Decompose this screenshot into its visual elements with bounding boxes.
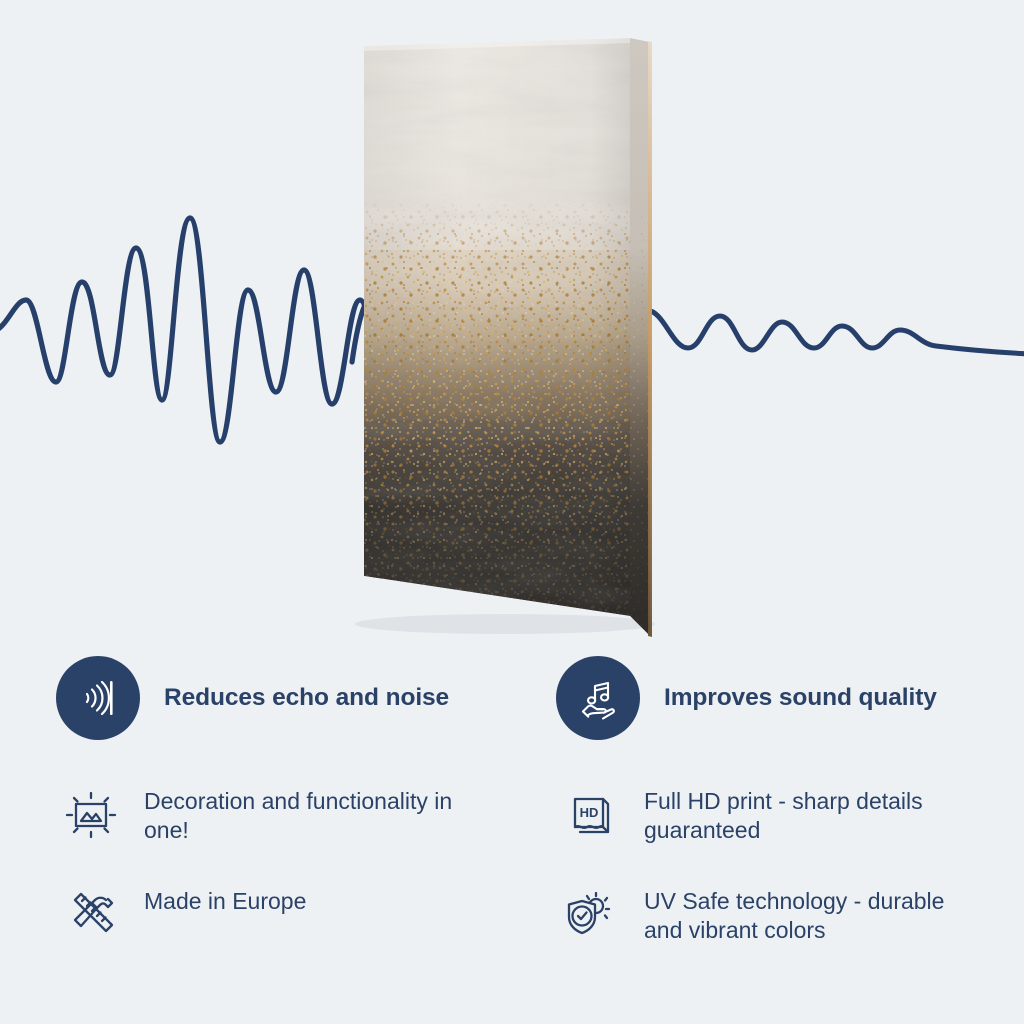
feature-text: Made in Europe — [144, 882, 306, 916]
badge-improves-sound: Improves sound quality — [556, 656, 937, 740]
abstract-canvas-print — [0, 0, 1024, 660]
feature-made-in-europe: Made in Europe — [60, 882, 306, 946]
feature-uv-safe: UV Safe technology - durable and vibrant… — [560, 882, 984, 946]
badge-label: Improves sound quality — [664, 684, 937, 712]
hd-canvas-icon-wrap: HD — [560, 784, 622, 846]
badge-group: Reduces echo and noise Im — [0, 648, 1024, 758]
feature-text: UV Safe technology - durable and vibrant… — [644, 882, 984, 945]
hd-canvas-icon: HD — [562, 786, 620, 844]
hd-icon-text: HD — [580, 805, 599, 820]
badge-reduces-echo: Reduces echo and noise — [56, 656, 449, 740]
framed-picture-shine-icon — [62, 786, 120, 844]
uv-shield-sun-icon-wrap — [560, 884, 622, 946]
music-note-hand-icon-circle — [556, 656, 640, 740]
badge-label: Reduces echo and noise — [164, 684, 449, 712]
framed-picture-shine-icon-wrap — [60, 784, 122, 846]
feature-text: Full HD print - sharp details guaranteed — [644, 782, 984, 845]
music-note-hand-icon — [573, 673, 623, 723]
echo-waves-icon-circle — [56, 656, 140, 740]
uv-shield-sun-icon — [562, 886, 620, 944]
feature-text: Decoration and functionality in one! — [144, 782, 484, 845]
feature-hd-print: HD Full HD print - sharp details guarant… — [560, 782, 984, 846]
hammer-ruler-icon — [62, 886, 120, 944]
feature-list: Decoration and functionality in one! — [0, 782, 1024, 1002]
feature-decoration: Decoration and functionality in one! — [60, 782, 484, 846]
infographic-stage: Reduces echo and noise Im — [0, 0, 1024, 1024]
echo-waves-icon — [73, 673, 123, 723]
hammer-ruler-icon-wrap — [60, 884, 122, 946]
